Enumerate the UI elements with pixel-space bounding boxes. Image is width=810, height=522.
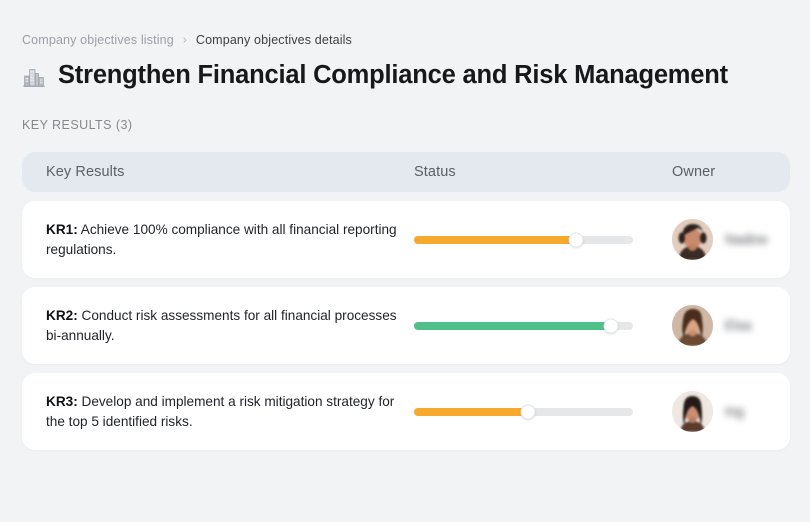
key-results-section-label: KEY RESULTS (3): [22, 118, 788, 133]
breadcrumb-current: Company objectives details: [196, 34, 352, 47]
key-result-code: KR3:: [46, 394, 78, 409]
owner-cell: Nadine: [672, 219, 768, 260]
avatar: [672, 391, 713, 432]
progress-slider[interactable]: [414, 236, 633, 244]
key-result-text: KR1: Achieve 100% compliance with all fi…: [46, 220, 414, 260]
key-result-description: Conduct risk assessments for all financi…: [46, 308, 397, 343]
status-cell: [414, 322, 672, 330]
key-result-text: KR3: Develop and implement a risk mitiga…: [46, 392, 414, 432]
progress-handle[interactable]: [604, 318, 619, 333]
progress-fill: [414, 322, 611, 330]
table-row[interactable]: KR2: Conduct risk assessments for all fi…: [22, 287, 790, 364]
chevron-right-icon: ›: [183, 34, 187, 46]
status-cell: [414, 236, 672, 244]
status-cell: [414, 408, 672, 416]
column-header-owner: Owner: [672, 164, 766, 180]
key-result-description: Achieve 100% compliance with all financi…: [46, 222, 397, 257]
progress-slider[interactable]: [414, 322, 633, 330]
progress-fill: [414, 408, 528, 416]
owner-name: Elsa: [725, 318, 751, 333]
table-row[interactable]: KR1: Achieve 100% compliance with all fi…: [22, 201, 790, 278]
table-header-row: Key Results Status Owner: [22, 152, 790, 192]
avatar: [672, 219, 713, 260]
key-result-code: KR2:: [46, 308, 78, 323]
progress-handle[interactable]: [520, 404, 535, 419]
table-row[interactable]: KR3: Develop and implement a risk mitiga…: [22, 373, 790, 450]
page-title: Strengthen Financial Compliance and Risk…: [58, 61, 728, 90]
key-results-table: Key Results Status Owner KR1: Achieve 10…: [22, 152, 790, 450]
column-header-status: Status: [414, 164, 672, 180]
breadcrumb-parent-link[interactable]: Company objectives listing: [22, 34, 174, 47]
page-root: Company objectives listing › Company obj…: [0, 0, 810, 522]
breadcrumb: Company objectives listing › Company obj…: [22, 0, 788, 40]
progress-fill: [414, 236, 576, 244]
owner-name: Ing: [725, 404, 744, 419]
office-building-icon: [22, 65, 46, 89]
progress-slider[interactable]: [414, 408, 633, 416]
avatar: [672, 305, 713, 346]
key-result-code: KR1:: [46, 222, 78, 237]
key-result-text: KR2: Conduct risk assessments for all fi…: [46, 306, 414, 346]
page-header: Strengthen Financial Compliance and Risk…: [22, 57, 788, 93]
owner-cell: Elsa: [672, 305, 766, 346]
owner-cell: Ing: [672, 391, 766, 432]
key-result-description: Develop and implement a risk mitigation …: [46, 394, 394, 429]
progress-handle[interactable]: [569, 232, 584, 247]
owner-name: Nadine: [725, 232, 768, 247]
column-header-key-results: Key Results: [46, 164, 414, 180]
